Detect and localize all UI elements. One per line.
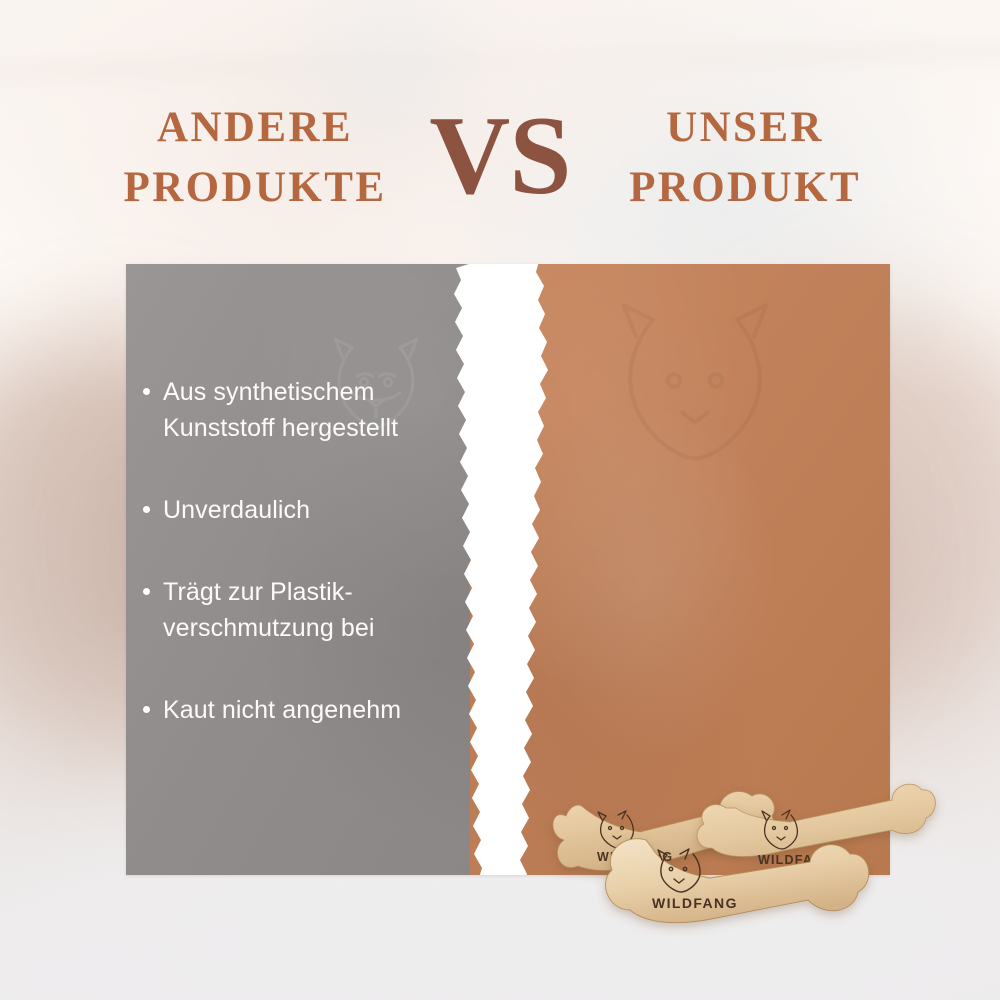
vs-label: VS — [405, 100, 595, 212]
heading-right-line1: UNSER — [666, 104, 824, 151]
bullet-icon — [143, 588, 150, 595]
bullet-icon — [143, 388, 150, 395]
list-andere-produkte: Aus synthetischem Kunststoff hergestellt… — [143, 374, 473, 774]
list-item-label: Trägt zur Plastik-verschmutzung bei — [163, 574, 473, 646]
panel-right-unser-produkt: aus natürlichem Rindsleder hergestellt B… — [470, 264, 890, 875]
list-item-label: Aus synthetischem Kunststoff hergestellt — [163, 374, 473, 446]
heading-unser-produkt: UNSER PRODUKT — [595, 98, 895, 217]
header: ANDERE PRODUKTE VS UNSER PRODUKT — [0, 95, 1000, 220]
wolf-head-watermark-icon — [590, 282, 800, 492]
infographic-canvas: ANDERE PRODUKTE VS UNSER PRODUKT — [0, 0, 1000, 1000]
heading-left-line1: ANDERE — [157, 104, 353, 151]
comparison-panel: Aus synthetischem Kunststoff hergestellt… — [126, 264, 890, 875]
list-item: Trägt zur Plastik-verschmutzung bei — [143, 574, 473, 646]
list-item: Kaut nicht angenehm — [143, 692, 473, 728]
heading-left-line2: PRODUKTE — [105, 158, 405, 217]
bullet-icon — [143, 706, 150, 713]
list-item: Aus synthetischem Kunststoff hergestellt — [143, 374, 473, 446]
list-item-label: Unverdaulich — [163, 492, 310, 528]
heading-andere-produkte: ANDERE PRODUKTE — [105, 98, 405, 217]
heading-right-line2: PRODUKT — [595, 158, 895, 217]
list-item: Unverdaulich — [143, 492, 473, 528]
list-item-label: Kaut nicht angenehm — [163, 692, 401, 728]
bullet-icon — [143, 506, 150, 513]
